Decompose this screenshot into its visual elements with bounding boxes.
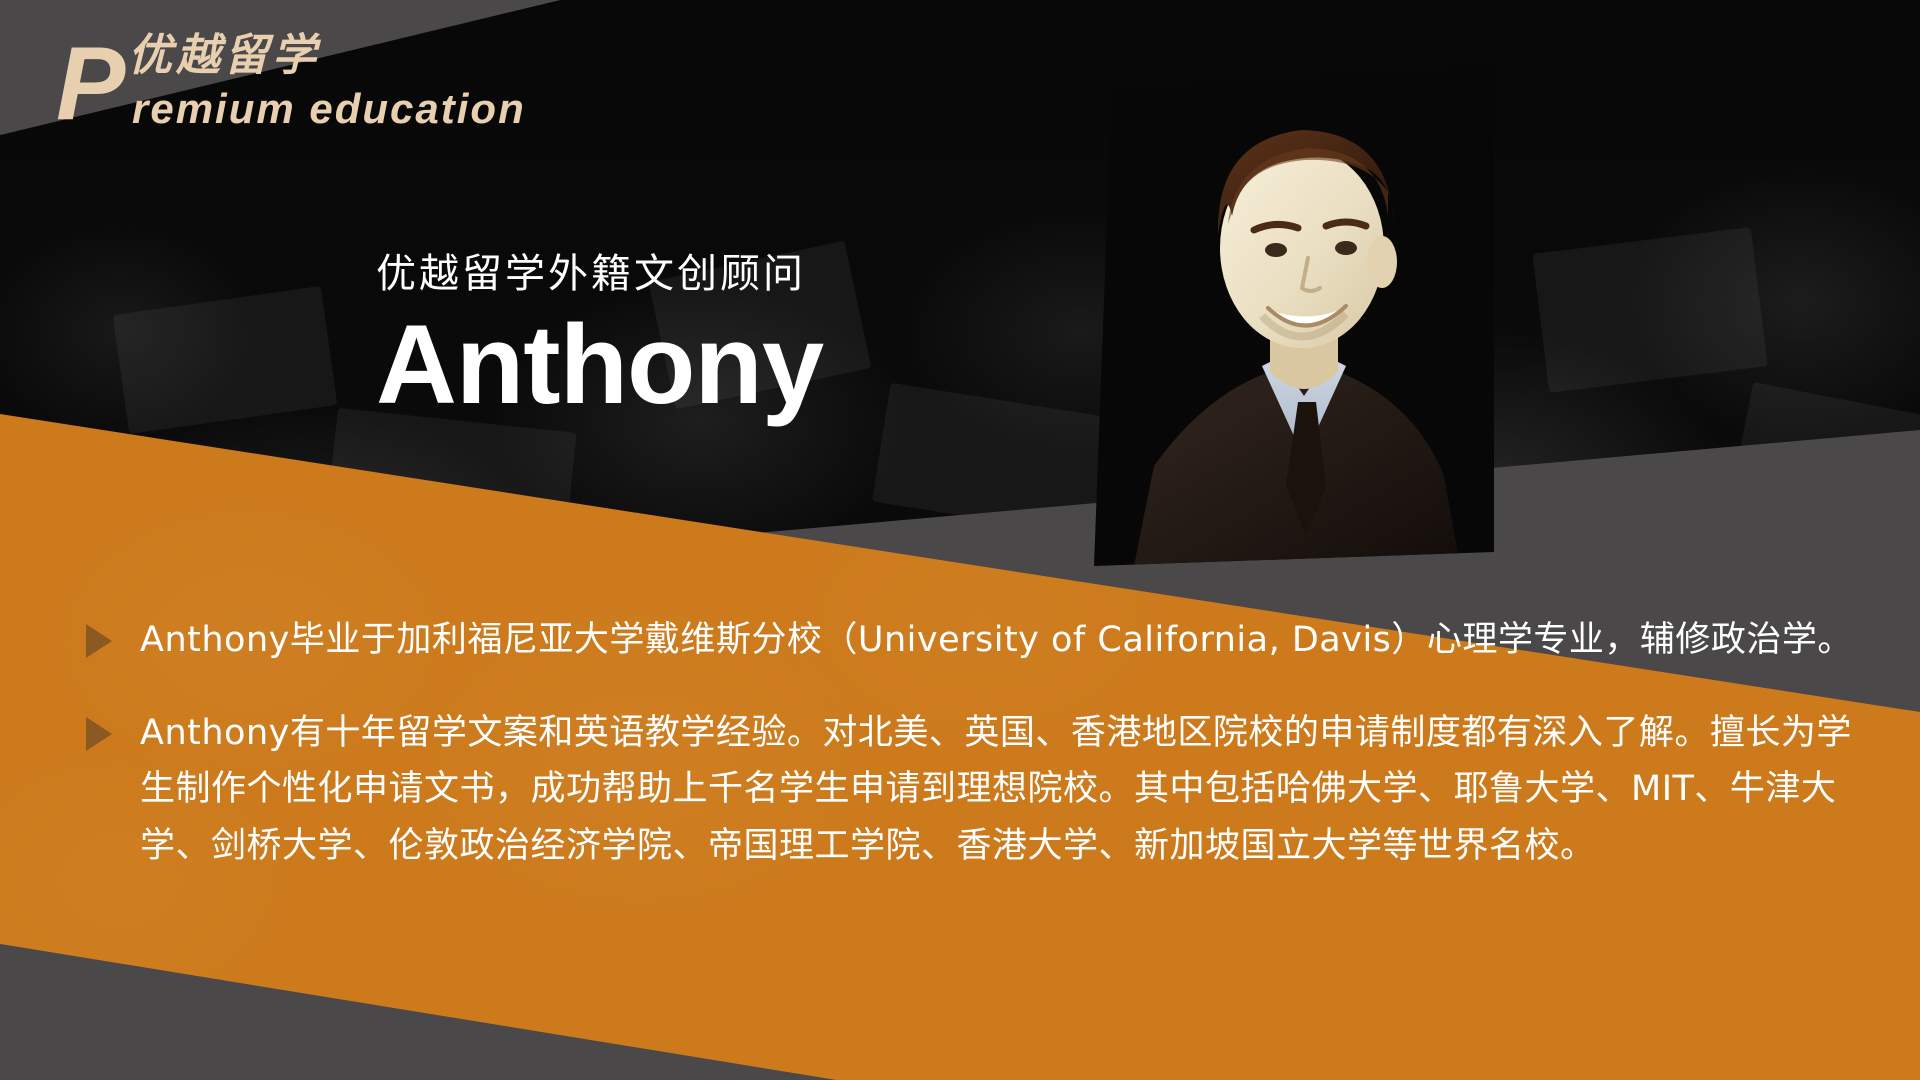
job-title: 优越留学外籍文创顾问 [376,250,823,298]
decorative-shape [1532,227,1767,393]
triangle-right-icon [86,624,112,658]
avatar [1094,66,1494,566]
presentation-slide: P 优越留学 remium education 优越留学外籍文创顾问 Antho… [0,0,1920,1080]
triangle-right-icon [86,717,112,751]
portrait-photo [1094,66,1494,566]
page-title: Anthony [376,306,823,424]
logo-english-name: remium education [132,88,526,130]
decorative-shape [113,286,338,434]
bullet-text: Anthony有十年留学文案和英语教学经验。对北美、英国、香港地区院校的申请制度… [140,705,1876,875]
bio-bullet-list: Anthony毕业于加利福尼亚大学戴维斯分校（University of Cal… [86,612,1876,911]
brand-logo[interactable]: P 优越留学 remium education [56,26,596,136]
headline-block: 优越留学外籍文创顾问 Anthony [376,250,823,424]
list-item: Anthony有十年留学文案和英语教学经验。对北美、英国、香港地区院校的申请制度… [86,705,1876,875]
logo-initial: P [56,32,123,136]
logo-chinese-name: 优越留学 [128,34,320,78]
list-item: Anthony毕业于加利福尼亚大学戴维斯分校（University of Cal… [86,612,1876,669]
bullet-text: Anthony毕业于加利福尼亚大学戴维斯分校（University of Cal… [140,612,1876,669]
